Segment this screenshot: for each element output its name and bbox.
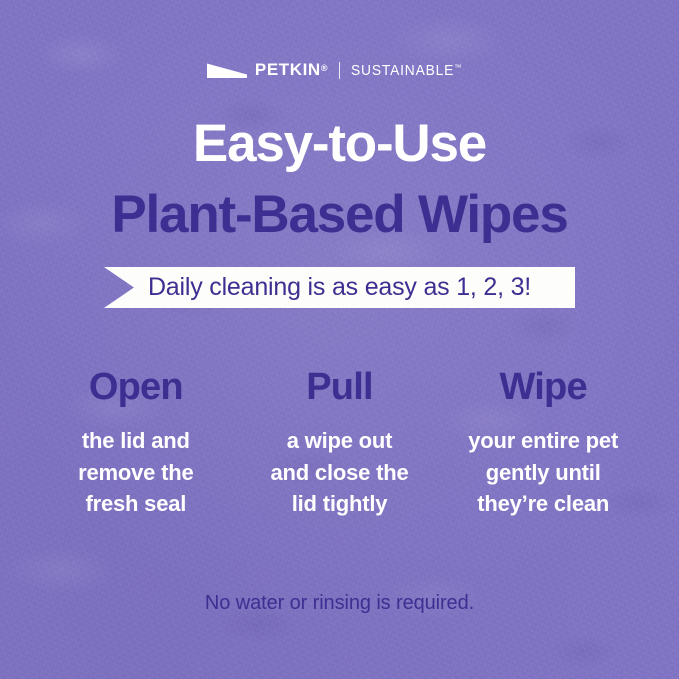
logo-separator: [339, 62, 340, 79]
step-line: remove the: [34, 457, 238, 489]
step-line: the lid and: [34, 425, 238, 457]
step-title: Pull: [238, 368, 442, 408]
ribbon-text: Daily cleaning is as easy as 1, 2, 3!: [148, 273, 531, 302]
step-line: a wipe out: [238, 425, 442, 457]
step-line: fresh seal: [34, 488, 238, 520]
headline-line-1: Easy-to-Use: [0, 117, 679, 170]
step-wipe: Wipe your entire pet gently until they’r…: [441, 368, 645, 520]
step-description: a wipe out and close the lid tightly: [238, 425, 442, 520]
infographic-content: PETKIN® SUSTAINABLE™ Easy-to-Use Plant-B…: [0, 0, 679, 679]
step-description: the lid and remove the fresh seal: [34, 425, 238, 520]
step-line: lid tightly: [238, 488, 442, 520]
step-line: and close the: [238, 457, 442, 489]
registered-mark: ®: [321, 63, 328, 73]
product-infographic: PETKIN® SUSTAINABLE™ Easy-to-Use Plant-B…: [0, 0, 679, 679]
headline-line-2: Plant-Based Wipes: [0, 188, 679, 241]
sub-brand-name: SUSTAINABLE™: [351, 62, 462, 79]
step-title: Open: [34, 368, 238, 408]
brand-name: PETKIN®: [255, 60, 328, 80]
footer-note: No water or rinsing is required.: [0, 592, 679, 615]
step-line: gently until: [441, 457, 645, 489]
steps-row: Open the lid and remove the fresh seal P…: [34, 368, 645, 520]
step-open: Open the lid and remove the fresh seal: [34, 368, 238, 520]
step-title: Wipe: [441, 368, 645, 408]
step-line: they’re clean: [441, 488, 645, 520]
tagline-ribbon: Daily cleaning is as easy as 1, 2, 3!: [104, 267, 575, 308]
brand-logo: PETKIN® SUSTAINABLE™: [0, 58, 679, 82]
petkin-wedge-icon: [207, 62, 247, 78]
step-pull: Pull a wipe out and close the lid tightl…: [238, 368, 442, 520]
step-line: your entire pet: [441, 425, 645, 457]
trademark-mark: ™: [454, 63, 462, 72]
step-description: your entire pet gently until they’re cle…: [441, 425, 645, 520]
